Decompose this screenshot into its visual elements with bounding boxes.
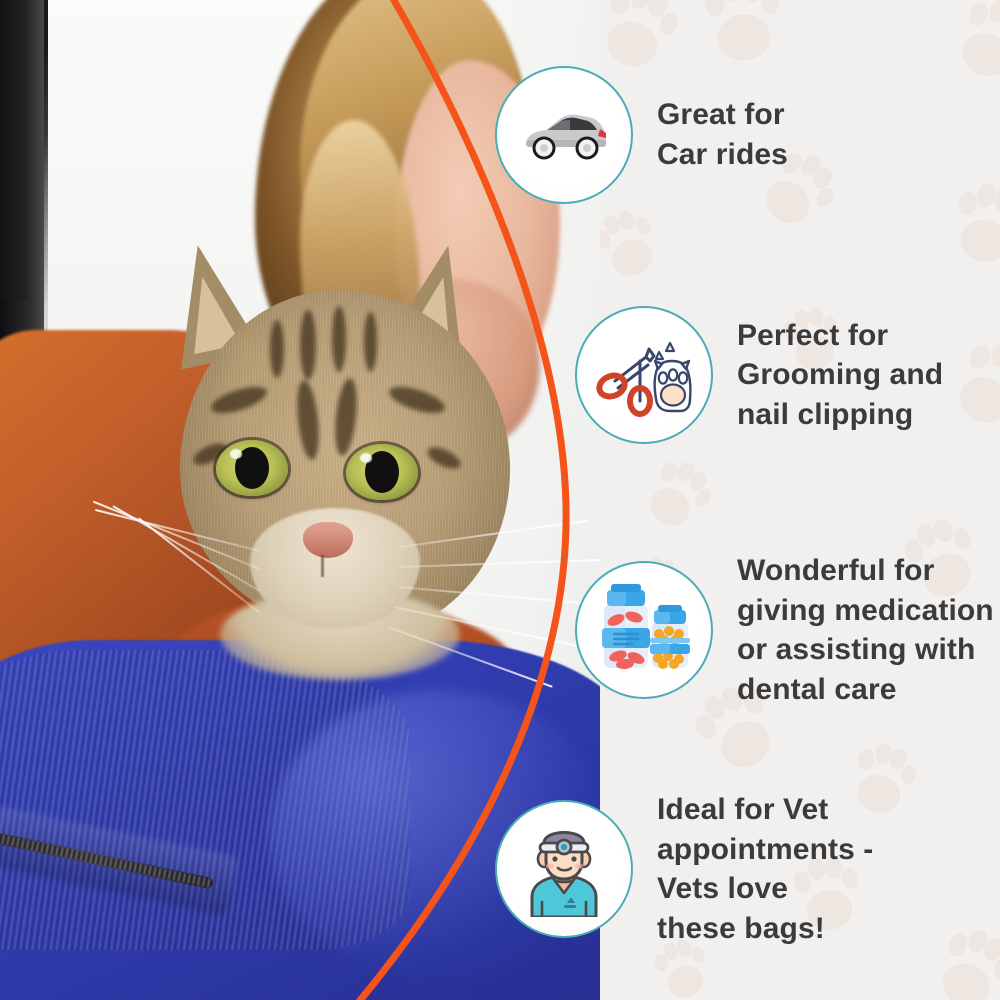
feature-label: Great for Car rides bbox=[657, 95, 788, 174]
product-feature-graphic: Great for Car rides bbox=[0, 0, 1000, 1000]
feature-list: Great for Car rides bbox=[470, 0, 1000, 1000]
feature-label: Wonderful for giving medication or assis… bbox=[737, 551, 994, 709]
feature-item-grooming: Perfect for Grooming and nail clipping bbox=[575, 306, 943, 444]
feature-item-vet: Ideal for Vet appointments - Vets love t… bbox=[495, 790, 873, 948]
feature-item-car-rides: Great for Car rides bbox=[495, 66, 788, 204]
car-icon bbox=[495, 66, 633, 204]
feature-item-medication: Wonderful for giving medication or assis… bbox=[575, 551, 994, 709]
feature-label: Perfect for Grooming and nail clipping bbox=[737, 316, 943, 435]
veterinarian-icon bbox=[495, 800, 633, 938]
pill-bottles-icon bbox=[575, 561, 713, 699]
nail-clippers-paw-icon bbox=[575, 306, 713, 444]
feature-label: Ideal for Vet appointments - Vets love t… bbox=[657, 790, 873, 948]
